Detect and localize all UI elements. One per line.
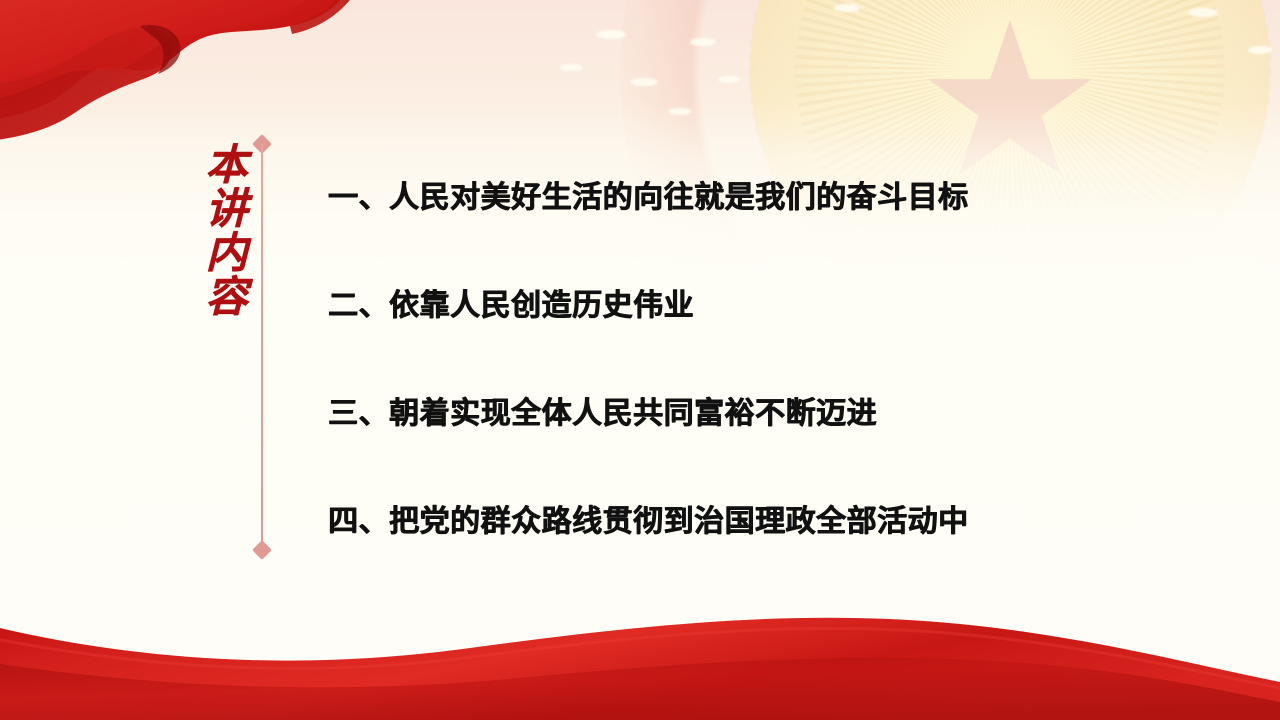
presentation-slide: 本讲内容 一、人民对美好生活的向往就是我们的奋斗目标 二、依靠人民创造历史伟业 … (0, 0, 1280, 720)
vertical-section-title: 本讲内容 (196, 142, 252, 318)
agenda-item-3[interactable]: 三、朝着实现全体人民共同富裕不断迈进 (328, 356, 1228, 464)
agenda-list: 一、人民对美好生活的向往就是我们的奋斗目标 二、依靠人民创造历史伟业 三、朝着实… (328, 140, 1228, 572)
agenda-item-1[interactable]: 一、人民对美好生活的向往就是我们的奋斗目标 (328, 140, 1228, 248)
agenda-item-2[interactable]: 二、依靠人民创造历史伟业 (328, 248, 1228, 356)
red-wave-ribbon-bottom (0, 590, 1280, 720)
vertical-divider (261, 144, 263, 550)
agenda-item-4[interactable]: 四、把党的群众路线贯彻到治国理政全部活动中 (328, 464, 1228, 572)
